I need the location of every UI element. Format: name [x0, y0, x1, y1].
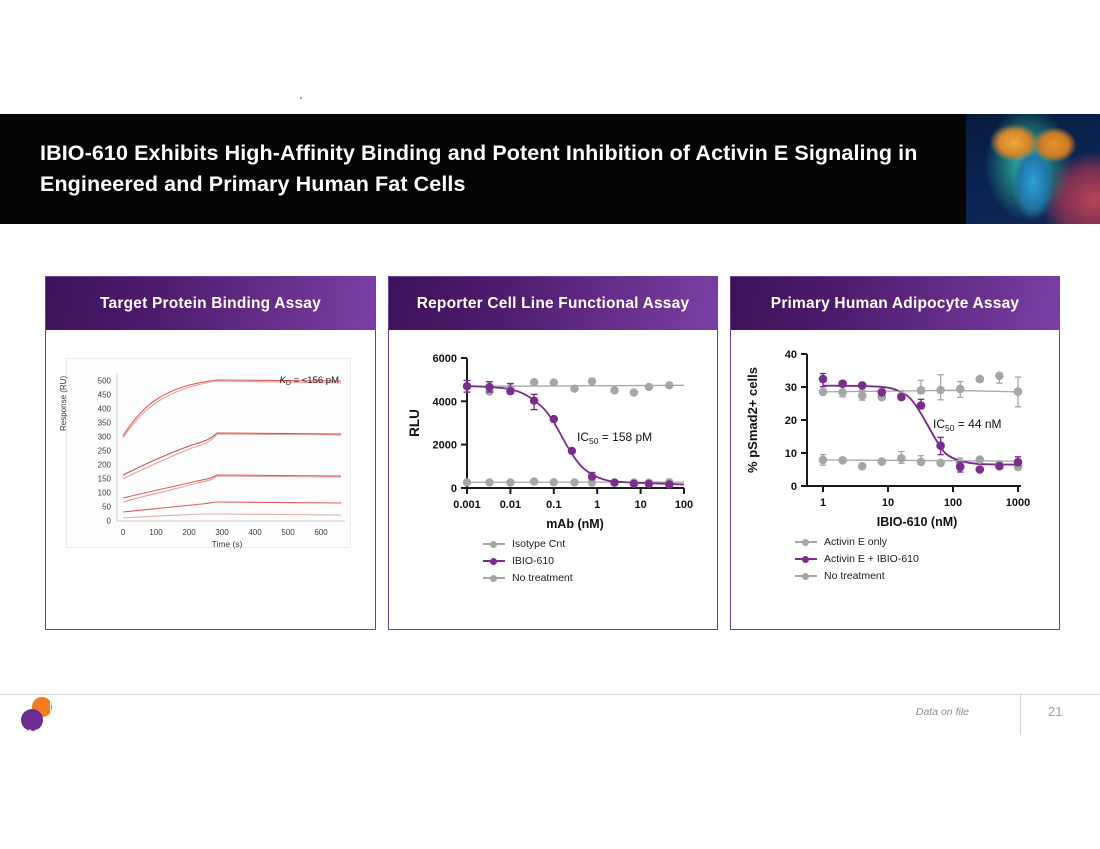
svg-text:10: 10: [882, 497, 894, 509]
svg-text:0: 0: [121, 528, 126, 537]
legend-item: IBIO-610: [483, 555, 573, 567]
page-number: 21: [1048, 704, 1062, 719]
legend-label: No treatment: [824, 570, 885, 582]
panel-adipocyte-title: Primary Human Adipocyte Assay: [771, 295, 1019, 313]
svg-text:30: 30: [785, 382, 797, 394]
panel-binding: Target Protein Binding Assay Response (R…: [45, 276, 376, 630]
logo-purple-glyph: [28, 727, 38, 737]
spr-y-axis-label: Response (RU): [59, 376, 68, 431]
svg-text:400: 400: [248, 528, 262, 537]
svg-text:1: 1: [594, 499, 600, 511]
footer-divider: [0, 694, 1100, 695]
legend-marker-icon: [483, 573, 505, 583]
svg-text:2000: 2000: [433, 440, 457, 452]
legend-marker-icon: [483, 556, 505, 566]
svg-text:KD = <156 pM: KD = <156 pM: [280, 375, 340, 387]
adipocyte-x-axis-label: IBIO-610 (nM): [877, 515, 958, 529]
legend-marker-icon: [483, 539, 505, 549]
svg-text:150: 150: [98, 475, 112, 484]
legend-item: Activin E only: [795, 536, 919, 548]
spr-chart: Response (RU) 500 450 400 350 300 250 20…: [66, 358, 351, 548]
legend-label: Activin E only: [824, 536, 887, 548]
svg-text:0: 0: [107, 517, 112, 526]
spr-x-axis-label: Time (s): [212, 539, 243, 549]
panel-binding-body: Response (RU) 500 450 400 350 300 250 20…: [46, 330, 375, 629]
reporter-x-axis-label: mAb (nM): [546, 517, 604, 531]
footer-vertical-divider: [1020, 693, 1021, 735]
legend-label: Isotype Cnt: [512, 538, 565, 550]
legend-label: IBIO-610: [512, 555, 554, 567]
svg-text:4000: 4000: [433, 396, 457, 408]
reporter-plot: 6000 4000 2000 0 0.001 0.01: [389, 340, 719, 570]
logo-orange-glyph: [50, 701, 59, 712]
svg-text:0.01: 0.01: [500, 499, 521, 511]
stray-mark: [300, 97, 302, 99]
adipocyte-legend: Activin E only Activin E + IBIO-610 No t…: [795, 536, 919, 582]
panel-binding-header: Target Protein Binding Assay: [46, 277, 375, 330]
legend-item: No treatment: [795, 570, 919, 582]
legend-item: No treatment: [483, 572, 573, 584]
svg-text:200: 200: [98, 461, 112, 470]
legend-item: Isotype Cnt: [483, 538, 573, 550]
svg-text:0.1: 0.1: [546, 499, 561, 511]
svg-text:20: 20: [785, 415, 797, 427]
reporter-y-axis-label: RLU: [407, 409, 422, 437]
svg-text:500: 500: [98, 377, 112, 386]
panel-adipocyte-header: Primary Human Adipocyte Assay: [731, 277, 1059, 330]
legend-label: Activin E + IBIO-610: [824, 553, 919, 565]
svg-text:200: 200: [182, 528, 196, 537]
svg-text:0: 0: [791, 481, 797, 493]
svg-text:600: 600: [314, 528, 328, 537]
panel-reporter-header: Reporter Cell Line Functional Assay: [389, 277, 717, 330]
page-title: IBIO-610 Exhibits High-Affinity Binding …: [40, 138, 950, 199]
logo-purple-circle: [21, 709, 43, 731]
svg-text:1000: 1000: [1006, 497, 1030, 509]
company-logo: [20, 697, 58, 733]
svg-text:500: 500: [281, 528, 295, 537]
svg-text:450: 450: [98, 391, 112, 400]
adipocyte-y-axis-label: % pSmad2+ cells: [745, 367, 760, 473]
reporter-ic50-annotation: IC50 = 158 pM: [577, 430, 652, 446]
svg-text:50: 50: [102, 503, 111, 512]
svg-text:350: 350: [98, 419, 112, 428]
svg-text:0: 0: [451, 483, 457, 495]
legend-item: Activin E + IBIO-610: [795, 553, 919, 565]
svg-text:400: 400: [98, 405, 112, 414]
svg-text:100: 100: [675, 499, 693, 511]
reporter-legend: Isotype Cnt IBIO-610 No treatment: [483, 538, 573, 584]
antibody-illustration: [966, 114, 1100, 224]
panel-adipocyte-body: 40 30 20 10 0 1 10 100: [731, 330, 1059, 629]
legend-label: No treatment: [512, 572, 573, 584]
legend-marker-icon: [795, 554, 817, 564]
panel-reporter-body: 6000 4000 2000 0 0.001 0.01: [389, 330, 717, 629]
assay-panels: Target Protein Binding Assay Response (R…: [45, 276, 1060, 630]
svg-text:250: 250: [98, 447, 112, 456]
spr-plot: 500 450 400 350 300 250 200 150 100 50 0: [67, 359, 352, 549]
svg-text:300: 300: [98, 433, 112, 442]
svg-text:100: 100: [149, 528, 163, 537]
panel-reporter: Reporter Cell Line Functional Assay 6000…: [388, 276, 718, 630]
svg-text:100: 100: [944, 497, 962, 509]
adipocyte-ic50-annotation: IC50 = 44 nM: [933, 417, 1002, 433]
panel-binding-title: Target Protein Binding Assay: [100, 295, 321, 313]
footer-source-note: Data on file: [916, 706, 969, 718]
panel-reporter-title: Reporter Cell Line Functional Assay: [417, 295, 690, 313]
svg-text:10: 10: [785, 448, 797, 460]
legend-marker-icon: [795, 537, 817, 547]
svg-text:10: 10: [634, 499, 646, 511]
panel-adipocyte: Primary Human Adipocyte Assay 40 30 20 1…: [730, 276, 1060, 630]
svg-text:300: 300: [215, 528, 229, 537]
svg-text:1: 1: [820, 497, 826, 509]
svg-text:100: 100: [98, 489, 112, 498]
svg-text:0.001: 0.001: [453, 499, 481, 511]
legend-marker-icon: [795, 571, 817, 581]
title-banner: IBIO-610 Exhibits High-Affinity Binding …: [0, 114, 1100, 224]
svg-text:6000: 6000: [433, 353, 457, 365]
svg-text:40: 40: [785, 349, 797, 361]
